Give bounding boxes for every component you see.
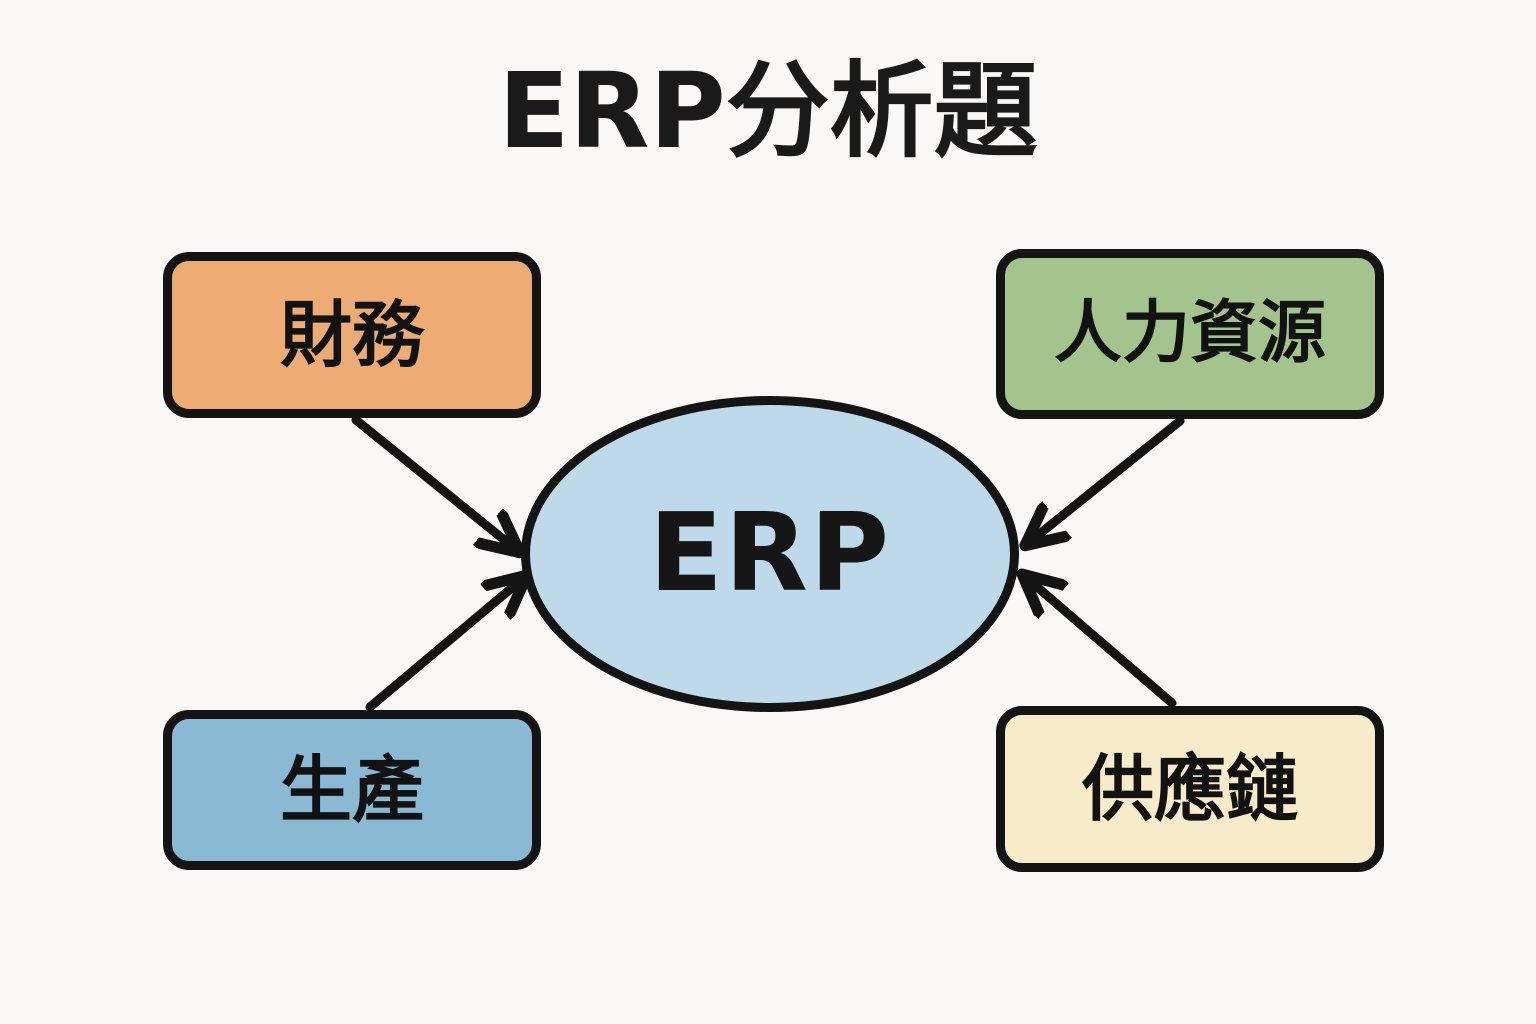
page-title: ERP分析題 [0, 52, 1536, 172]
node-human-resources-label: 人力資源 [1054, 300, 1326, 368]
node-production[interactable]: 生產 [163, 710, 541, 870]
node-human-resources[interactable]: 人力資源 [996, 249, 1384, 419]
diagram-canvas: ERP分析題 財務 人力資源 生產 供應鏈 ERP [0, 0, 1536, 1024]
node-finance-label: 財務 [280, 299, 424, 371]
node-supply-chain-label: 供應鏈 [1082, 753, 1298, 825]
node-production-label: 生產 [280, 754, 424, 826]
arrow-hr-to-erp [1032, 421, 1180, 540]
node-supply-chain[interactable]: 供應鏈 [996, 706, 1384, 872]
arrow-finance-to-erp [356, 420, 513, 547]
node-erp-core[interactable]: ERP [521, 396, 1019, 712]
node-finance[interactable]: 財務 [163, 252, 541, 418]
arrow-production-to-erp [370, 581, 520, 707]
node-erp-core-label: ERP [649, 500, 891, 608]
arrow-supply-chain-to-erp [1029, 580, 1172, 703]
